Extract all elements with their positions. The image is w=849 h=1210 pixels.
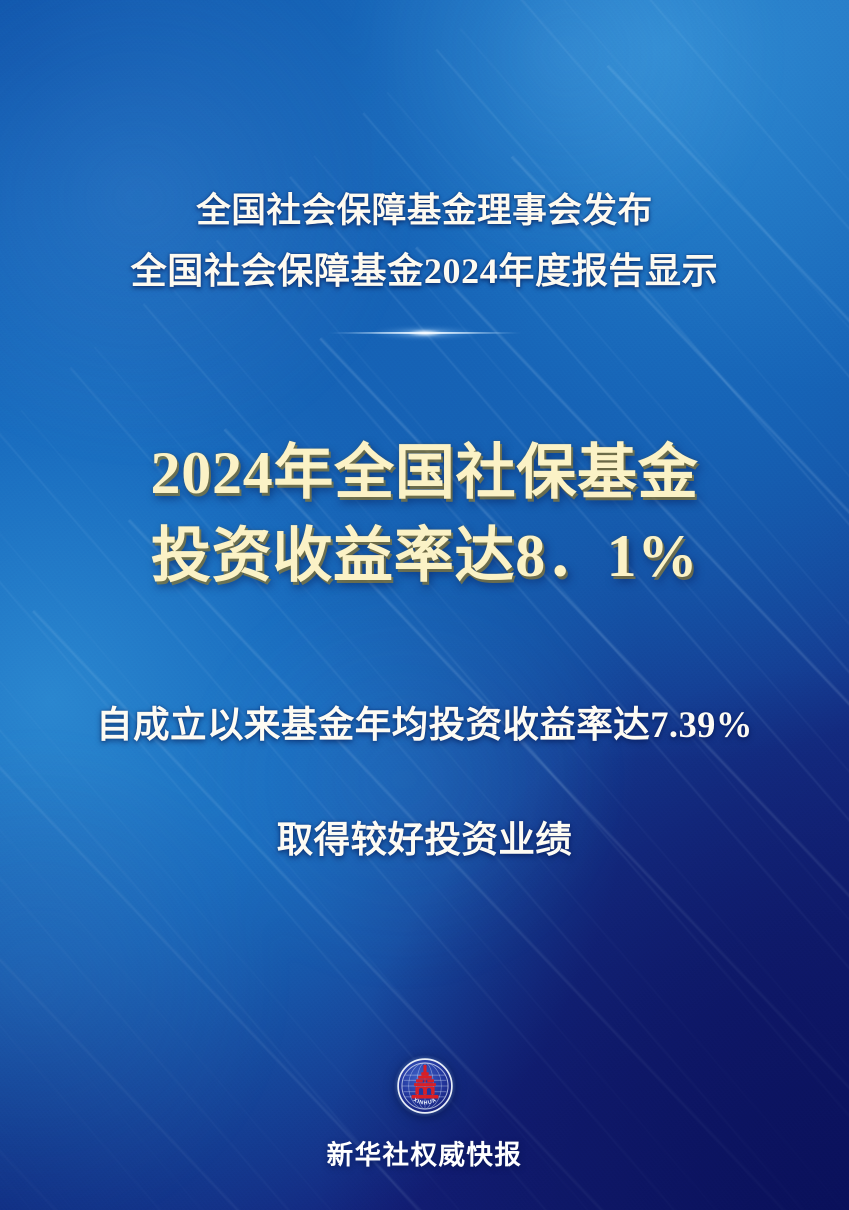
header-block: 全国社会保障基金理事会发布 全国社会保障基金2024年度报告显示 [0, 189, 849, 295]
headline-line-2: 投资收益率达8．1% [0, 518, 849, 595]
headline-block: 2024年全国社保基金 投资收益率达8．1% [0, 435, 849, 595]
footer-block: XINHUA 新华社权威快报 [0, 1054, 849, 1172]
footer-label: 新华社权威快报 [327, 1133, 523, 1172]
header-line-2: 全国社会保障基金2024年度报告显示 [0, 248, 849, 295]
headline-line-1: 2024年全国社保基金 [0, 435, 849, 512]
flare-core [327, 332, 523, 334]
xinhua-logo-icon: XINHUA [393, 1054, 457, 1118]
news-poster: 全国社会保障基金理事会发布 全国社会保障基金2024年度报告显示 2024年全国… [0, 0, 849, 1210]
flare-hotspot [408, 330, 442, 336]
body-line-2: 取得较好投资业绩 [0, 815, 849, 864]
body-line-1: 自成立以来基金年均投资收益率达7.39% [0, 700, 849, 749]
flare-glow [371, 327, 479, 339]
header-line-1: 全国社会保障基金理事会发布 [0, 189, 849, 234]
body-block: 自成立以来基金年均投资收益率达7.39% 取得较好投资业绩 [0, 700, 849, 865]
lens-flare-divider-icon [327, 326, 523, 340]
poster-content: 全国社会保障基金理事会发布 全国社会保障基金2024年度报告显示 2024年全国… [0, 0, 849, 1210]
